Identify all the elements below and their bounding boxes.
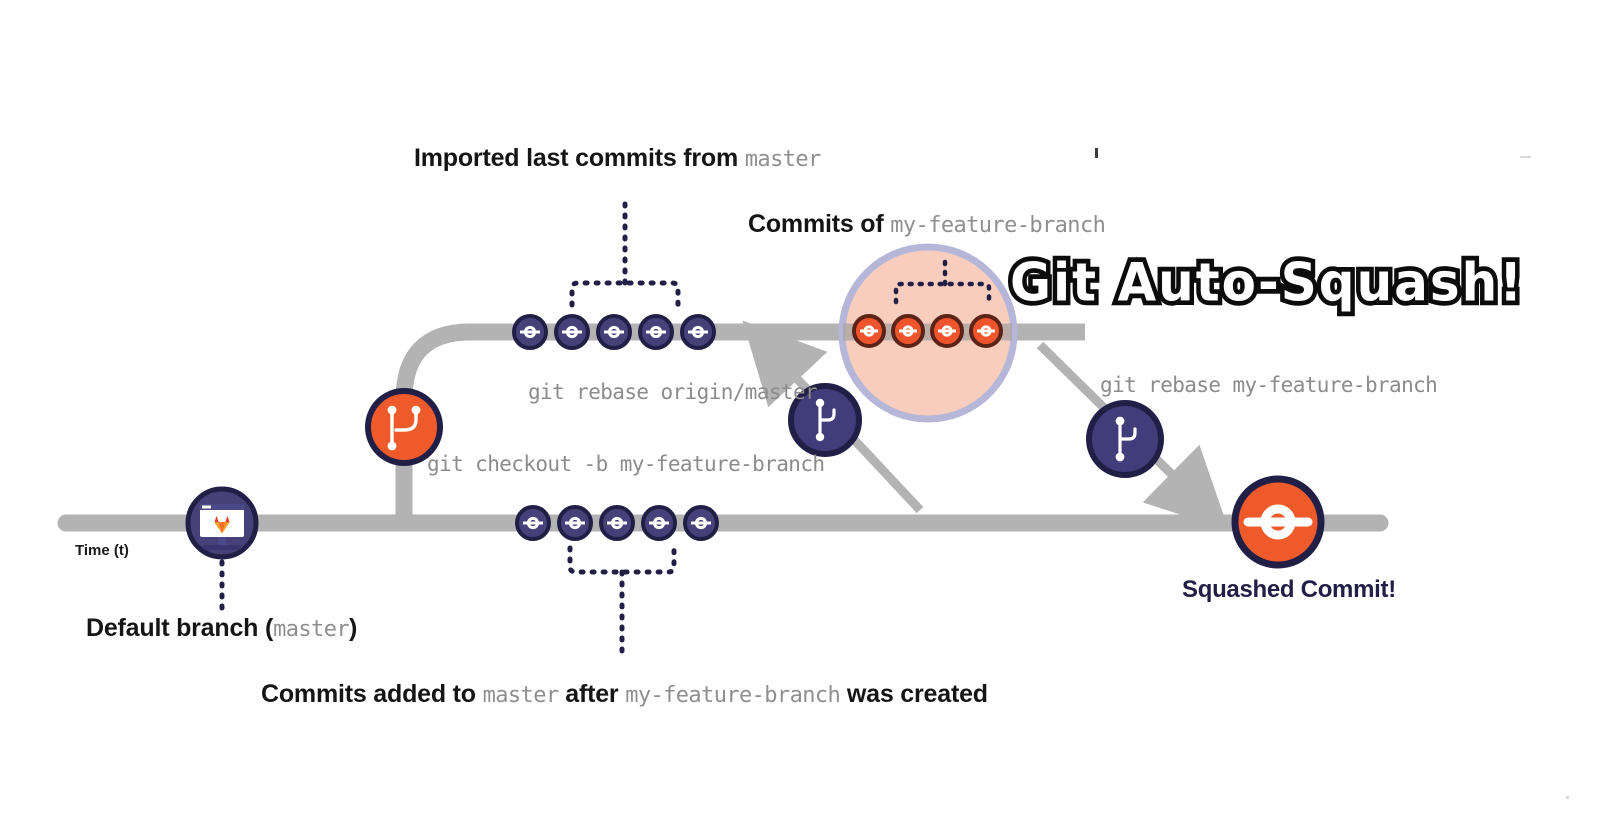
edge-tick-corner [1566,796,1569,799]
git-flow-svg [0,0,1600,840]
label-imported-commits-branch: master [745,147,821,172]
axis-label-time: Time (t) [75,543,129,558]
commit-node[interactable] [601,507,633,539]
label-imported-commits-bold: Imported last commits from [414,144,738,172]
label-default-branch-bold: Default branch ( [86,614,273,642]
command-rebase-origin-master: git rebase origin/master [528,382,817,403]
label-bottom-branch-feature: my-feature-branch [625,683,840,708]
label-bottom-bold-a: Commits added to [261,680,476,708]
master-commit-nodes [517,507,717,539]
imported-commit-nodes [514,316,714,348]
label-default-branch-bold-end: ) [349,614,357,642]
label-default-branch: Default branch (master) [86,616,357,641]
commit-node[interactable] [685,507,717,539]
label-bottom-bold-c: was created [847,680,988,708]
bracket-imported-commits [572,196,678,305]
commit-node[interactable] [598,316,630,348]
squashed-commit-node[interactable] [1235,479,1321,565]
diagram-canvas: Imported last commits from master Commit… [0,0,1600,840]
command-checkout-branch: git checkout -b my-feature-branch [427,454,824,475]
command-rebase-feature-branch: git rebase my-feature-branch [1100,375,1437,396]
label-bottom-branch-master: master [483,683,559,708]
bracket-master-commits [570,548,674,660]
label-commits-of-branch: my-feature-branch [890,213,1105,238]
commit-node[interactable] [640,316,672,348]
gitlab-fox-icon[interactable] [188,489,256,557]
label-imported-commits: Imported last commits from master [414,146,821,171]
label-default-branch-name: master [273,617,349,642]
commit-node[interactable] [932,316,962,346]
git-branch-node-rebase-feature[interactable] [1089,403,1161,475]
commit-node[interactable] [971,316,1001,346]
commit-node[interactable] [682,316,714,348]
feature-branch-curve [404,332,800,523]
commit-node[interactable] [517,507,549,539]
commit-node[interactable] [559,507,591,539]
edge-tick-right [1520,156,1531,158]
commit-node[interactable] [643,507,675,539]
page-title: Git Auto-Squash! [1010,252,1524,310]
label-bottom-bold-b: after [565,680,618,708]
commit-node[interactable] [514,316,546,348]
commit-node[interactable] [556,316,588,348]
commit-node[interactable] [854,316,884,346]
label-commits-of-bold: Commits of [748,210,884,238]
label-commits-of-feature: Commits of my-feature-branch [748,212,1105,237]
stray-mark [1095,148,1098,158]
label-commits-added-master: Commits added to master after my-feature… [261,682,988,707]
commit-node[interactable] [893,316,923,346]
label-squashed-commit: Squashed Commit! [1182,578,1396,602]
page-title-text: Git Auto-Squash! [1010,252,1524,313]
